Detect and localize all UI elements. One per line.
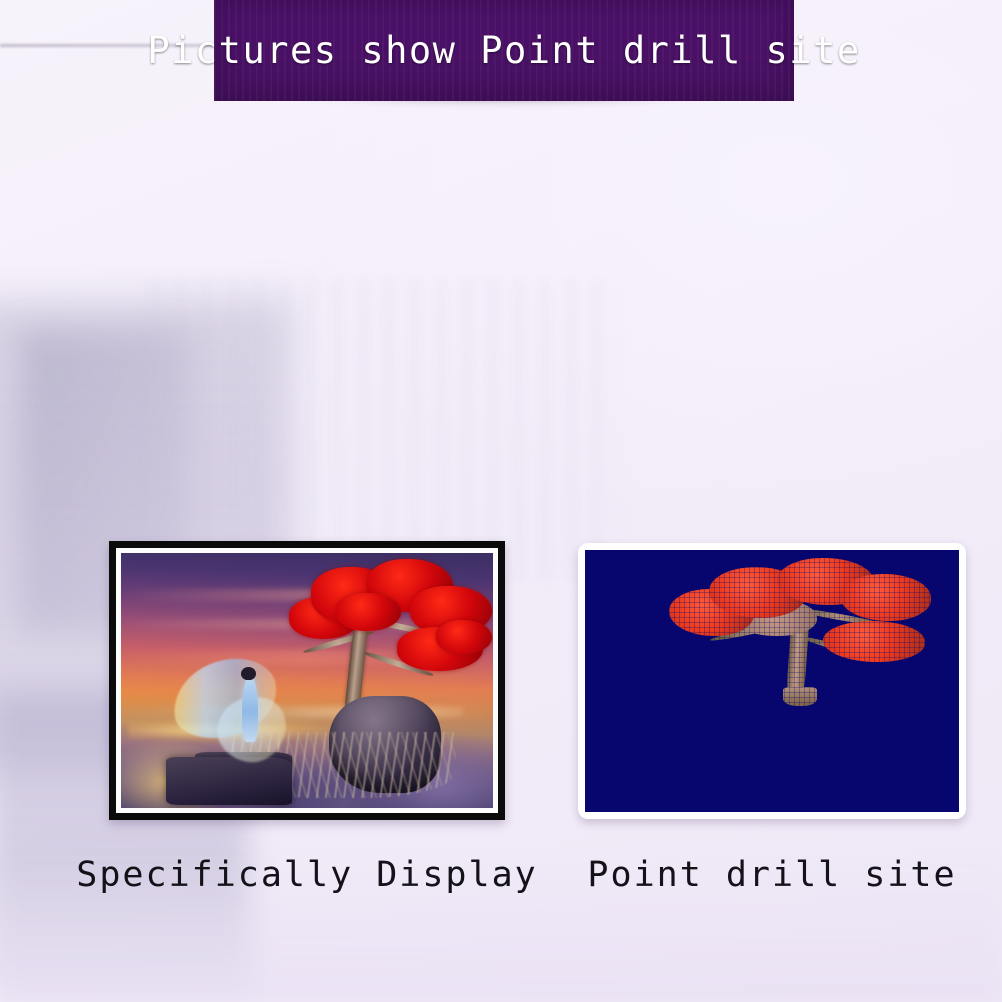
header-banner: Pictures show Point drill site xyxy=(214,0,794,104)
sunset-tree-painting xyxy=(121,553,493,808)
card-row xyxy=(0,541,1002,901)
product-image-page: Pictures show Point drill site xyxy=(0,0,1002,1002)
caption-point-drill-site: Point drill site xyxy=(578,848,966,902)
specifically-display-frame xyxy=(109,541,505,820)
photo-mat xyxy=(116,548,498,813)
drill-grid-overlay xyxy=(664,558,948,715)
caption-specifically-display: Specifically Display xyxy=(109,848,505,902)
banner-title: Pictures show Point drill site xyxy=(214,0,794,101)
background-streak-texture xyxy=(150,280,620,580)
woman-head xyxy=(241,667,256,681)
drilled-tree-mosaic xyxy=(664,558,948,715)
point-drill-site-frame xyxy=(578,543,966,819)
woman-figure xyxy=(242,675,258,741)
drill-site-canvas xyxy=(585,550,959,812)
stone-step-lower xyxy=(166,757,292,805)
tree-foliage-7 xyxy=(436,620,492,654)
tree-foliage-4 xyxy=(336,593,401,631)
